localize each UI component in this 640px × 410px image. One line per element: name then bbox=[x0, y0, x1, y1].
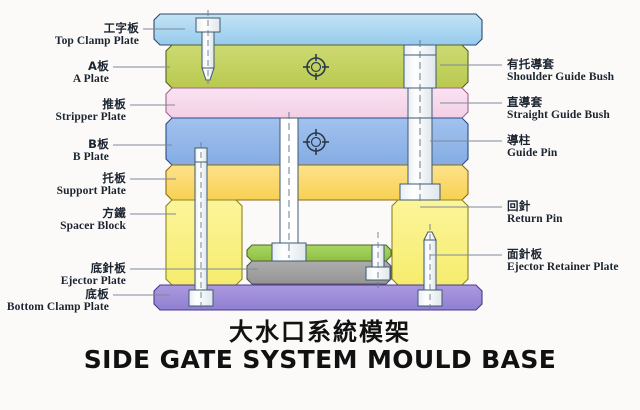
diagram-canvas: 大水口系統模架 SIDE GATE SYSTEM MOULD BASE 工字板T… bbox=[0, 0, 640, 410]
callout-label-english: B Plate bbox=[73, 151, 109, 164]
callout-label-chinese: 回針 bbox=[507, 200, 563, 213]
callout-label-chinese: 導柱 bbox=[507, 134, 557, 147]
callout-label-chinese: 底板 bbox=[7, 288, 109, 301]
shoulder-guide-bush-body bbox=[404, 55, 436, 88]
callout-label-chinese: 面針板 bbox=[507, 248, 619, 261]
callout-label: 有托導套Shoulder Guide Bush bbox=[507, 58, 614, 84]
callout-label: 底針板Ejector Plate bbox=[61, 262, 126, 288]
callout-label-chinese: 推板 bbox=[56, 98, 127, 111]
callout-label-english: Ejector Plate bbox=[61, 275, 126, 288]
callout-label-chinese: B板 bbox=[73, 138, 109, 151]
callout-label: A板A Plate bbox=[73, 60, 109, 86]
callout-label-english: Spacer Block bbox=[60, 220, 126, 233]
callout-label-chinese: 直導套 bbox=[507, 96, 610, 109]
callout-label-english: Bottom Clamp Plate bbox=[7, 301, 109, 314]
callout-label-english: Top Clamp Plate bbox=[55, 35, 139, 48]
callout-label-english: Stripper Plate bbox=[56, 111, 127, 124]
callout-label: 方鐵Spacer Block bbox=[60, 207, 126, 233]
callout-label-english: Support Plate bbox=[57, 185, 126, 198]
callout-label: 面針板Ejector Retainer Plate bbox=[507, 248, 619, 274]
callout-label: B板B Plate bbox=[73, 138, 109, 164]
callout-label-english: Straight Guide Bush bbox=[507, 109, 610, 122]
callout-label-english: Shoulder Guide Bush bbox=[507, 71, 614, 84]
callout-label-english: Guide Pin bbox=[507, 147, 557, 160]
title-english: SIDE GATE SYSTEM MOULD BASE bbox=[0, 345, 640, 374]
callout-label-chinese: A板 bbox=[73, 60, 109, 73]
callout-label: 導柱Guide Pin bbox=[507, 134, 557, 160]
callout-label: 工字板Top Clamp Plate bbox=[55, 22, 139, 48]
title-chinese: 大水口系統模架 bbox=[0, 312, 640, 347]
callout-label: 托板Support Plate bbox=[57, 172, 126, 198]
callout-label-chinese: 托板 bbox=[57, 172, 126, 185]
callout-label: 推板Stripper Plate bbox=[56, 98, 127, 124]
callout-label: 直導套Straight Guide Bush bbox=[507, 96, 610, 122]
callout-label: 回針Return Pin bbox=[507, 200, 563, 226]
callout-label-chinese: 有托導套 bbox=[507, 58, 614, 71]
callout-label-chinese: 底針板 bbox=[61, 262, 126, 275]
callout-label-chinese: 方鐵 bbox=[60, 207, 126, 220]
callout-label-english: Return Pin bbox=[507, 213, 563, 226]
callout-label: 底板Bottom Clamp Plate bbox=[7, 288, 109, 314]
callout-label-english: A Plate bbox=[73, 73, 109, 86]
callout-label-english: Ejector Retainer Plate bbox=[507, 261, 619, 274]
plate-ejector-retainer bbox=[247, 245, 391, 261]
straight-guide-bush bbox=[408, 88, 432, 118]
callout-label-chinese: 工字板 bbox=[55, 22, 139, 35]
